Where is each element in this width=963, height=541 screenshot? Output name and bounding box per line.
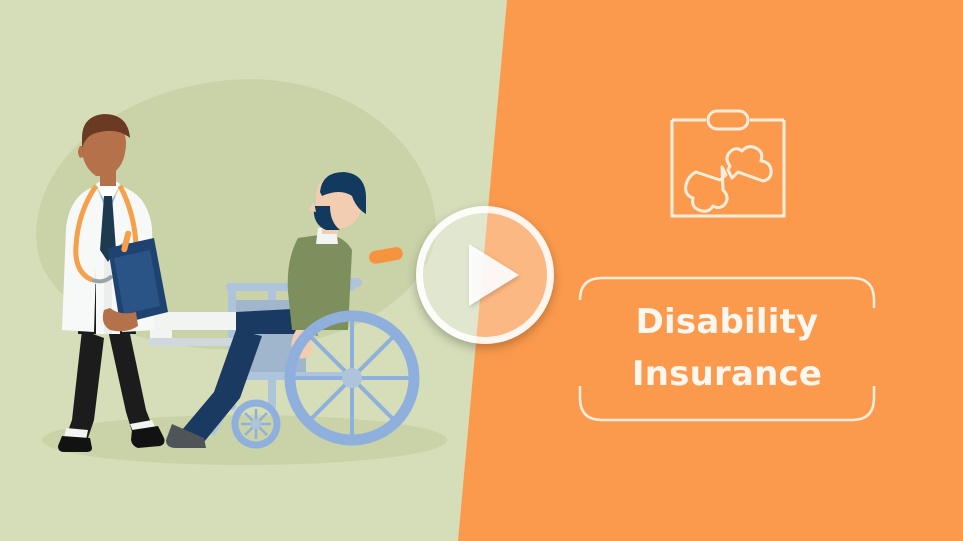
title-line-1: Disability	[578, 296, 876, 348]
video-thumbnail-card: Disability Insurance	[0, 0, 963, 541]
title-line-2: Insurance	[578, 348, 876, 400]
patient-figure	[166, 172, 404, 448]
play-button[interactable]	[416, 206, 554, 344]
wheelchair-large-wheel	[290, 316, 414, 440]
xray-bone-clipboard-icon	[666, 104, 790, 228]
doctor-figure	[58, 114, 168, 452]
play-triangle-icon	[469, 244, 519, 306]
page-title: Disability Insurance	[578, 296, 876, 400]
